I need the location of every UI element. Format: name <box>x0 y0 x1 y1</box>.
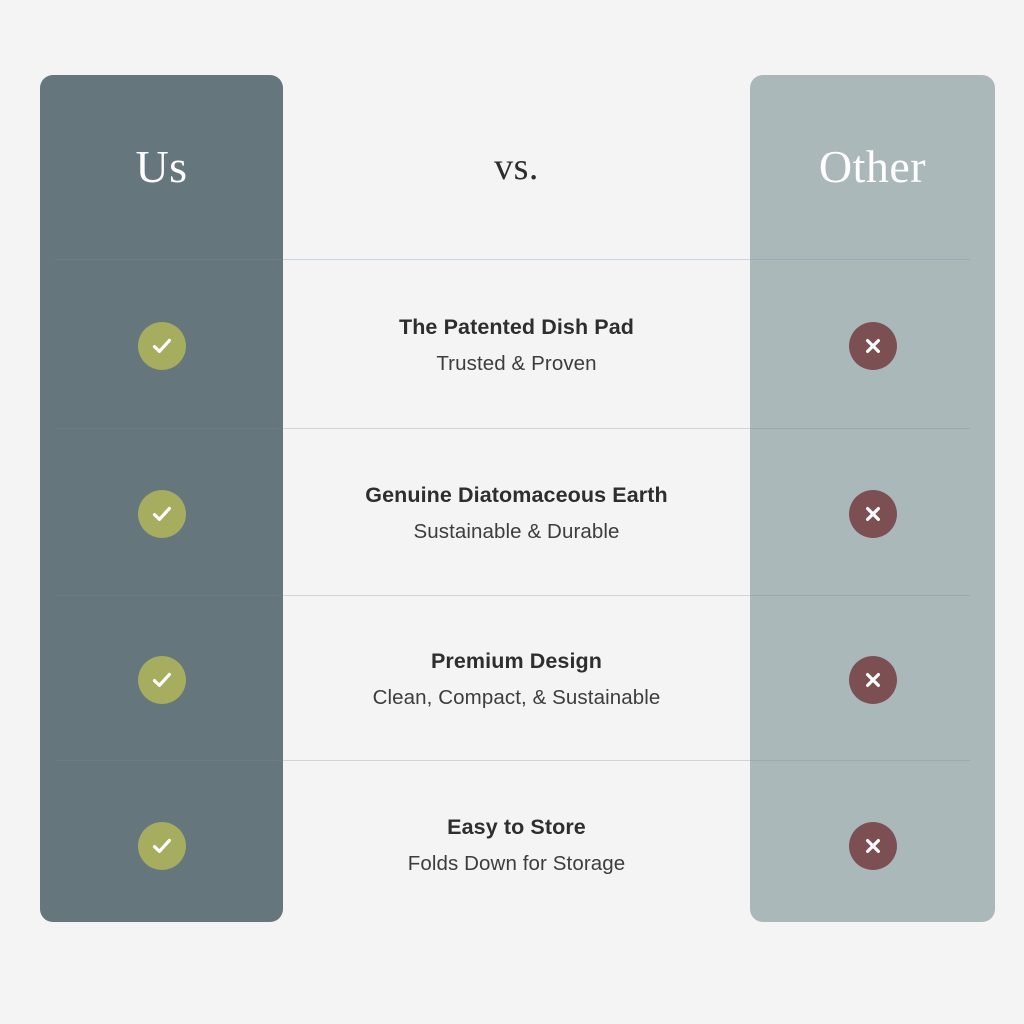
feature-title: Premium Design <box>431 649 602 675</box>
feature-title: The Patented Dish Pad <box>399 315 634 341</box>
header-us-label: Us <box>40 75 283 259</box>
us-status-cell <box>40 262 283 429</box>
feature-title: Genuine Diatomaceous Earth <box>365 483 667 509</box>
header-other-label: Other <box>750 75 995 259</box>
cross-icon <box>849 490 897 538</box>
cross-icon <box>849 322 897 370</box>
other-status-cell <box>750 430 995 597</box>
us-status-cell <box>40 762 283 929</box>
other-status-cell <box>750 262 995 429</box>
check-icon <box>138 822 186 870</box>
feature-text-cell: Genuine Diatomaceous Earth Sustainable &… <box>283 430 750 597</box>
feature-subtitle: Sustainable & Durable <box>413 520 619 545</box>
check-icon <box>138 322 186 370</box>
check-icon <box>138 490 186 538</box>
cross-icon <box>849 822 897 870</box>
table-row: The Patented Dish Pad Trusted & Proven <box>0 262 1024 429</box>
header-vs-label: vs. <box>283 75 750 259</box>
other-status-cell <box>750 596 995 763</box>
other-status-cell <box>750 762 995 929</box>
feature-text-cell: Easy to Store Folds Down for Storage <box>283 762 750 929</box>
us-status-cell <box>40 430 283 597</box>
cross-icon <box>849 656 897 704</box>
feature-text-cell: The Patented Dish Pad Trusted & Proven <box>283 262 750 429</box>
check-icon <box>138 656 186 704</box>
feature-subtitle: Trusted & Proven <box>436 352 596 377</box>
feature-text-cell: Premium Design Clean, Compact, & Sustain… <box>283 596 750 763</box>
table-header-row: Us vs. Other <box>0 75 1024 259</box>
us-status-cell <box>40 596 283 763</box>
table-row: Genuine Diatomaceous Earth Sustainable &… <box>0 430 1024 597</box>
row-divider-1 <box>55 259 970 260</box>
feature-subtitle: Clean, Compact, & Sustainable <box>373 686 661 711</box>
table-row: Easy to Store Folds Down for Storage <box>0 762 1024 929</box>
feature-title: Easy to Store <box>447 815 586 841</box>
feature-subtitle: Folds Down for Storage <box>408 852 626 877</box>
table-row: Premium Design Clean, Compact, & Sustain… <box>0 596 1024 763</box>
comparison-table: Us vs. Other The Patented Dish Pad Trust… <box>0 0 1024 1024</box>
